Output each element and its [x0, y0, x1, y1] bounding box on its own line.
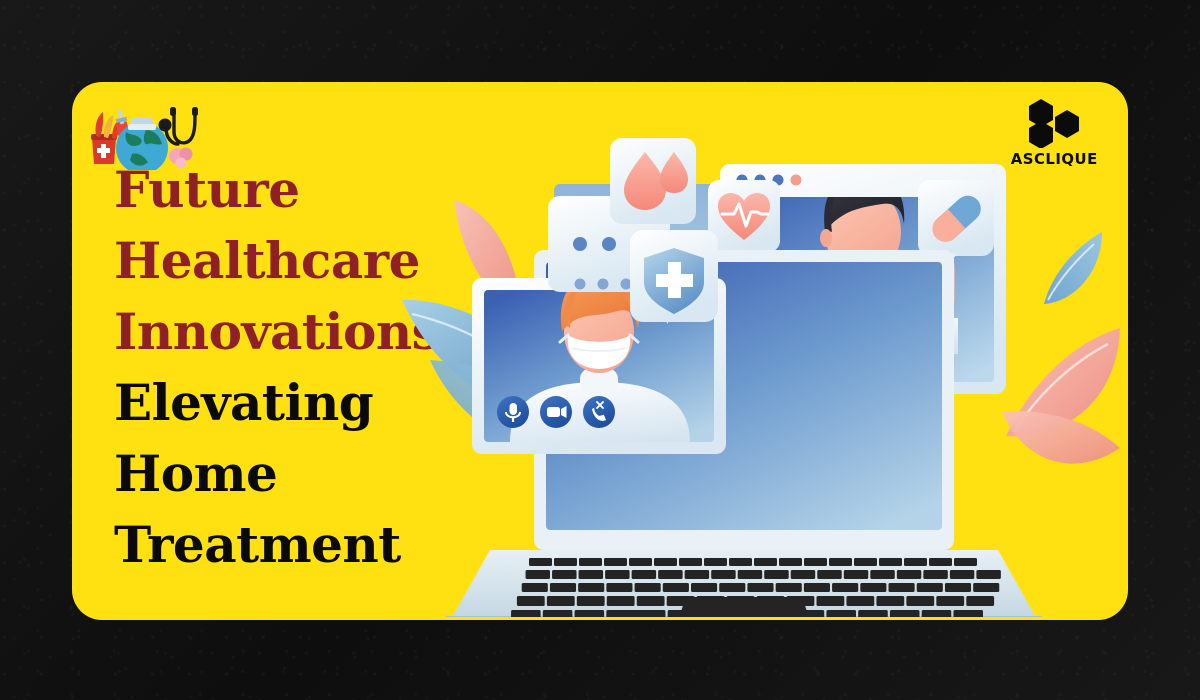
- blood-drop-card: [610, 138, 696, 224]
- heart-rate-card: [708, 180, 780, 252]
- patient-call-controls[interactable]: [497, 396, 615, 428]
- end-call-button[interactable]: [583, 396, 615, 428]
- decor-leaf-pink-right-2: [1002, 411, 1120, 463]
- banner-card: ASCLIQUE Future Healthcare Innovations E…: [72, 82, 1128, 620]
- telemedicine-illustration: [402, 92, 1122, 617]
- decor-leaf-blue-right: [1044, 232, 1102, 304]
- stethoscope-chestpiece: [159, 119, 172, 132]
- chat-dots-secondary-icon: [575, 279, 632, 290]
- shield-card: [630, 230, 718, 322]
- medical-cap-icon: [128, 118, 156, 130]
- laptop-trackpad[interactable]: [678, 597, 810, 617]
